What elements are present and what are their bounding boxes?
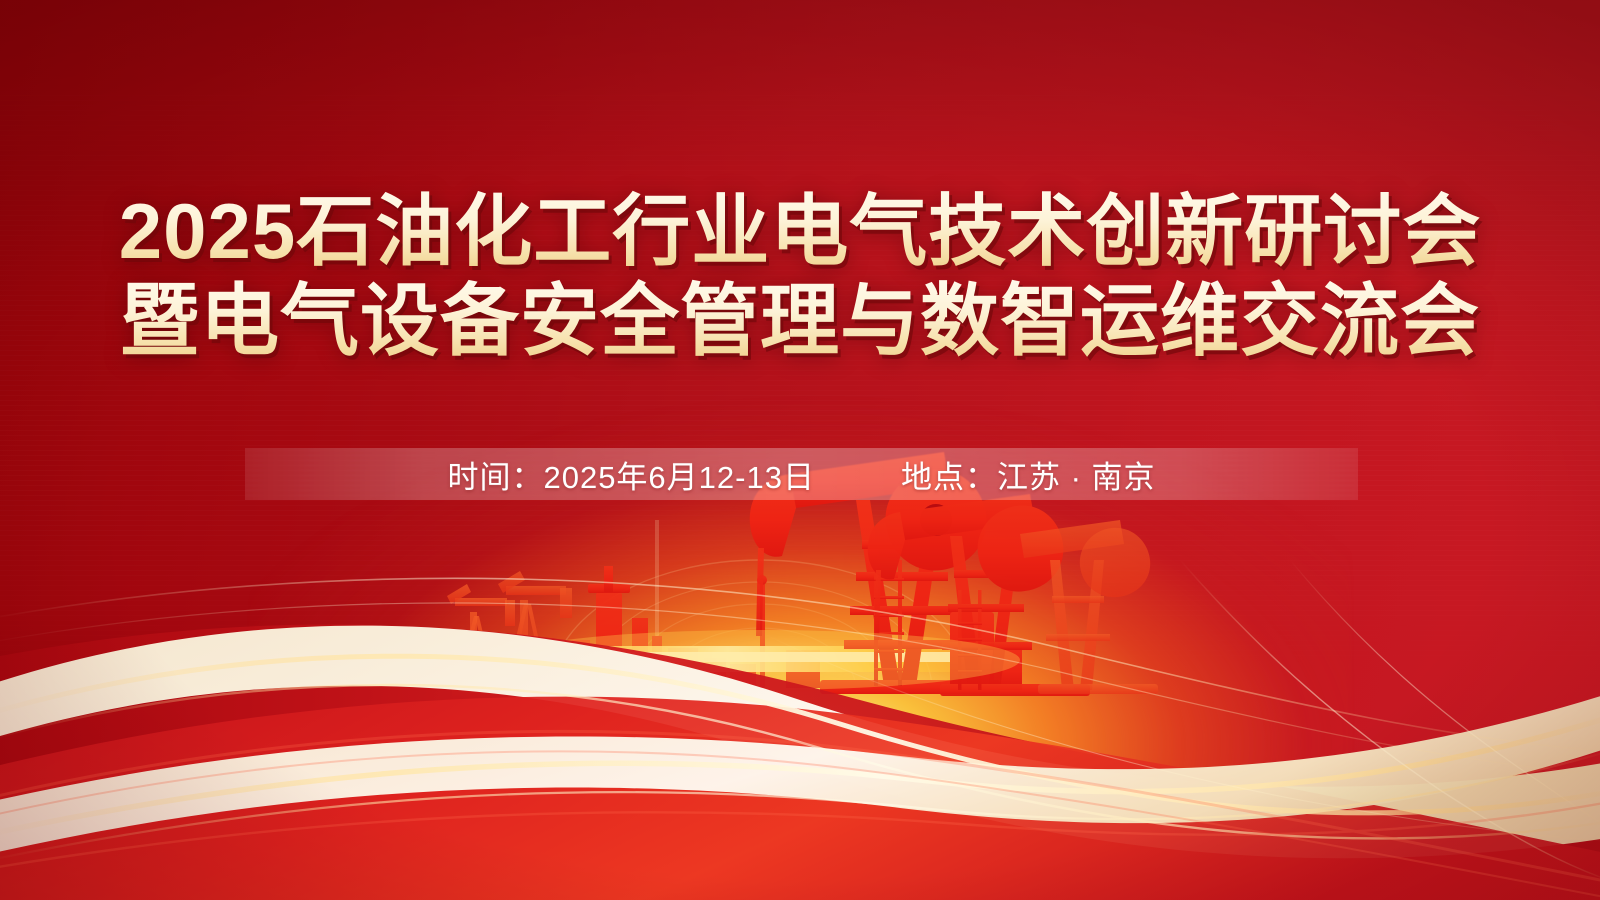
event-location: 地点：江苏 · 南京 — [901, 452, 1156, 497]
event-poster: 2025石油化工行业电气技术创新研讨会 暨电气设备安全管理与数智运维交流会 时间… — [0, 0, 1600, 900]
title-line-1: 2025石油化工行业电气技术创新研讨会 — [0, 186, 1600, 276]
event-info-band: 时间：2025年6月12-13日 地点：江苏 · 南京 — [245, 448, 1358, 500]
event-time: 时间：2025年6月12-13日 — [447, 452, 815, 497]
title-line-2: 暨电气设备安全管理与数智运维交流会 — [0, 276, 1600, 366]
poster-title: 2025石油化工行业电气技术创新研讨会 暨电气设备安全管理与数智运维交流会 — [0, 186, 1600, 366]
